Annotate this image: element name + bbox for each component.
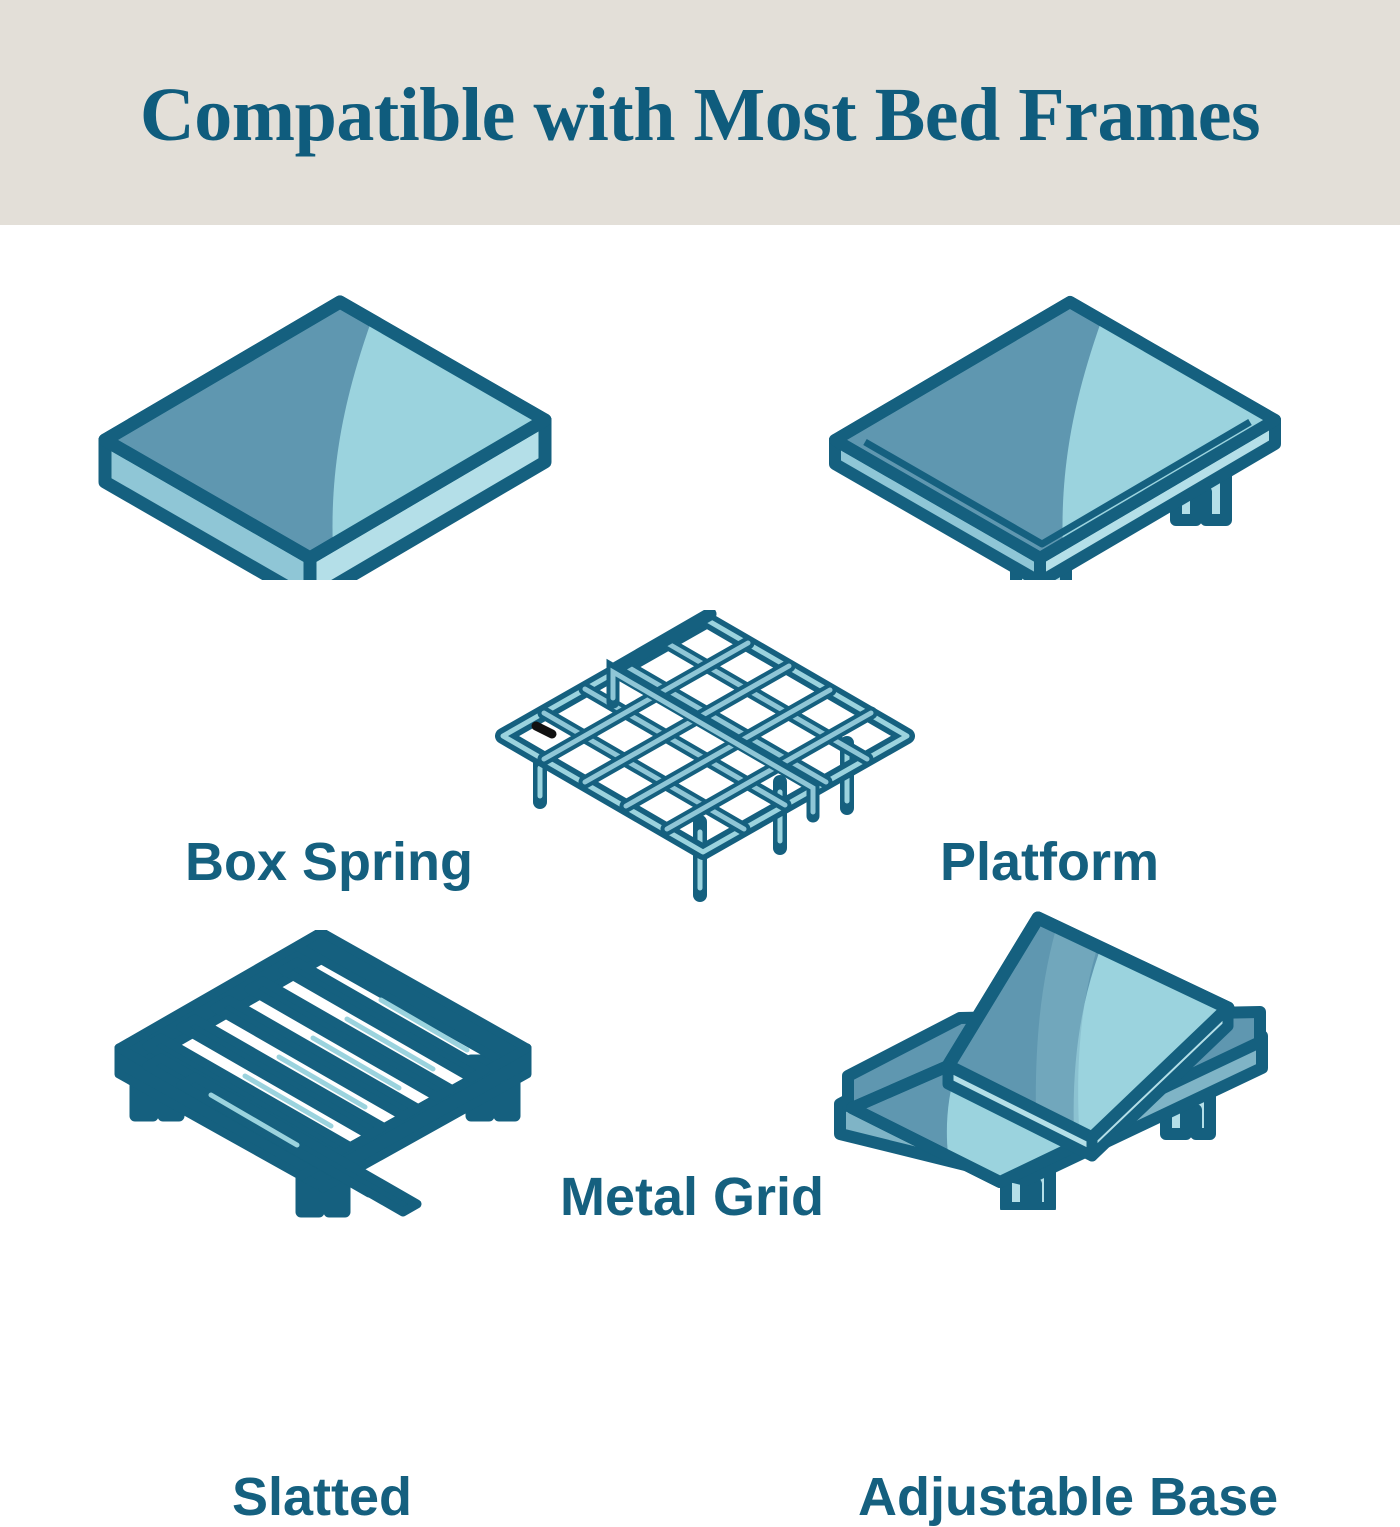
item-label-slatted: Slatted xyxy=(232,1470,412,1524)
metal-grid-illustration: .gbar { stroke:#15607f; stroke-width:13;… xyxy=(495,610,915,910)
item-label-box-spring: Box Spring xyxy=(185,835,473,889)
platform-illustration xyxy=(820,290,1290,580)
item-label-metal-grid: Metal Grid xyxy=(560,1170,824,1224)
grid-corner-marker xyxy=(536,726,552,734)
item-label-adjustable-base: Adjustable Base xyxy=(858,1470,1278,1524)
illustration-canvas: .gbar { stroke:#15607f; stroke-width:13;… xyxy=(0,225,1400,1400)
grid-lattice xyxy=(544,643,871,829)
item-label-platform: Platform xyxy=(940,835,1159,889)
box-spring-illustration xyxy=(95,290,555,580)
infographic-root: Compatible with Most Bed Frames xyxy=(0,0,1400,1400)
slatted-illustration: .slat { fill:#15607f; stroke:#15607f; st… xyxy=(105,930,545,1220)
adjustable-base-illustration xyxy=(830,890,1280,1210)
header-band: Compatible with Most Bed Frames xyxy=(0,0,1400,225)
page-title: Compatible with Most Bed Frames xyxy=(140,77,1260,153)
